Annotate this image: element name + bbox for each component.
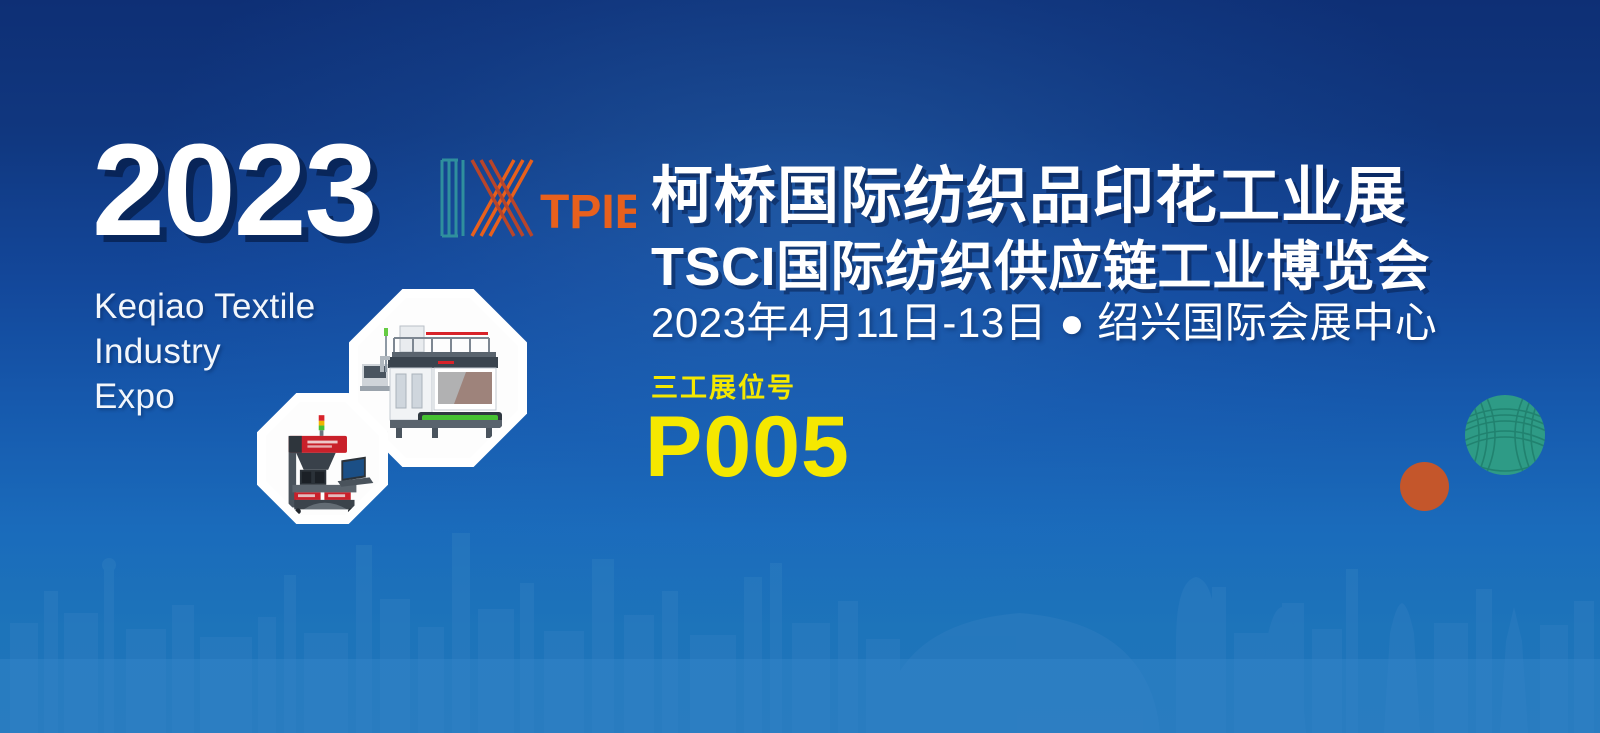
machine-photo-small-inner xyxy=(266,402,379,515)
english-subtitle-line-1: Keqiao Textile xyxy=(94,284,315,329)
expo-banner: 2023 Keqiao Textile Industry Expo xyxy=(0,0,1600,733)
chinese-title: 柯桥国际纺织品印花工业展 xyxy=(651,166,1407,228)
date-venue-line: 2023年4月11日-13日 ● 绍兴国际会展中心 xyxy=(651,302,1437,344)
english-subtitle: Keqiao Textile Industry Expo xyxy=(94,284,315,419)
ktpie-logo-icon: TPIE xyxy=(436,154,636,242)
chinese-subtitle: TSCI国际纺织供应链工业博览会 xyxy=(651,240,1430,294)
yarn-ball-icon xyxy=(1464,394,1546,476)
booth-number: P005 xyxy=(645,404,850,490)
city-skyline xyxy=(0,473,1600,733)
year-heading: 2023 xyxy=(92,124,375,255)
english-subtitle-line-2: Industry xyxy=(94,329,315,374)
booth-label: 三工展位号 xyxy=(651,375,796,402)
ktpie-wordmark: TPIE xyxy=(540,186,636,239)
orange-dot-decoration xyxy=(1400,462,1449,511)
marking-machine-illustration xyxy=(266,402,379,515)
